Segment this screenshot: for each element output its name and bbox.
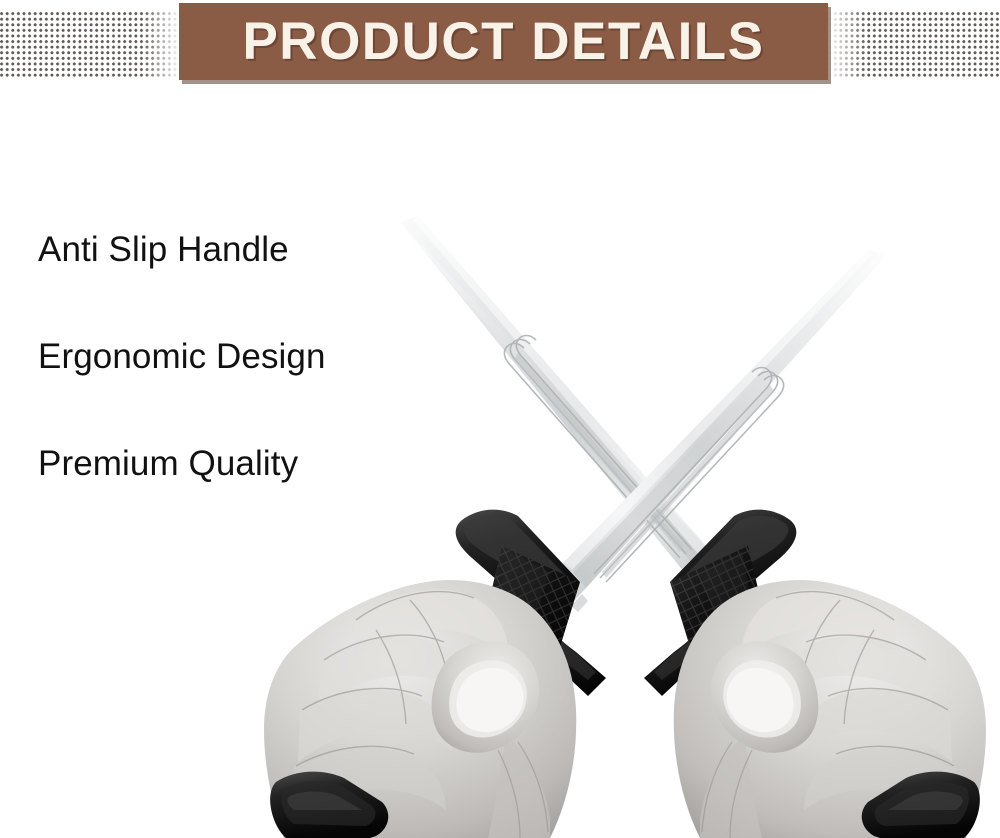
dot-pattern-right-icon: [828, 12, 1000, 78]
header-banner: PRODUCT DETAILS: [179, 3, 828, 80]
crossed-daggers-illustration: [250, 190, 1000, 838]
page-title: PRODUCT DETAILS: [242, 15, 764, 68]
product-details-page: PRODUCT DETAILS Anti Slip Handle Ergonom…: [0, 0, 1000, 838]
product-photo: [250, 190, 1000, 838]
page-header: PRODUCT DETAILS: [0, 0, 1000, 100]
dot-pattern-left-icon: [0, 12, 182, 78]
